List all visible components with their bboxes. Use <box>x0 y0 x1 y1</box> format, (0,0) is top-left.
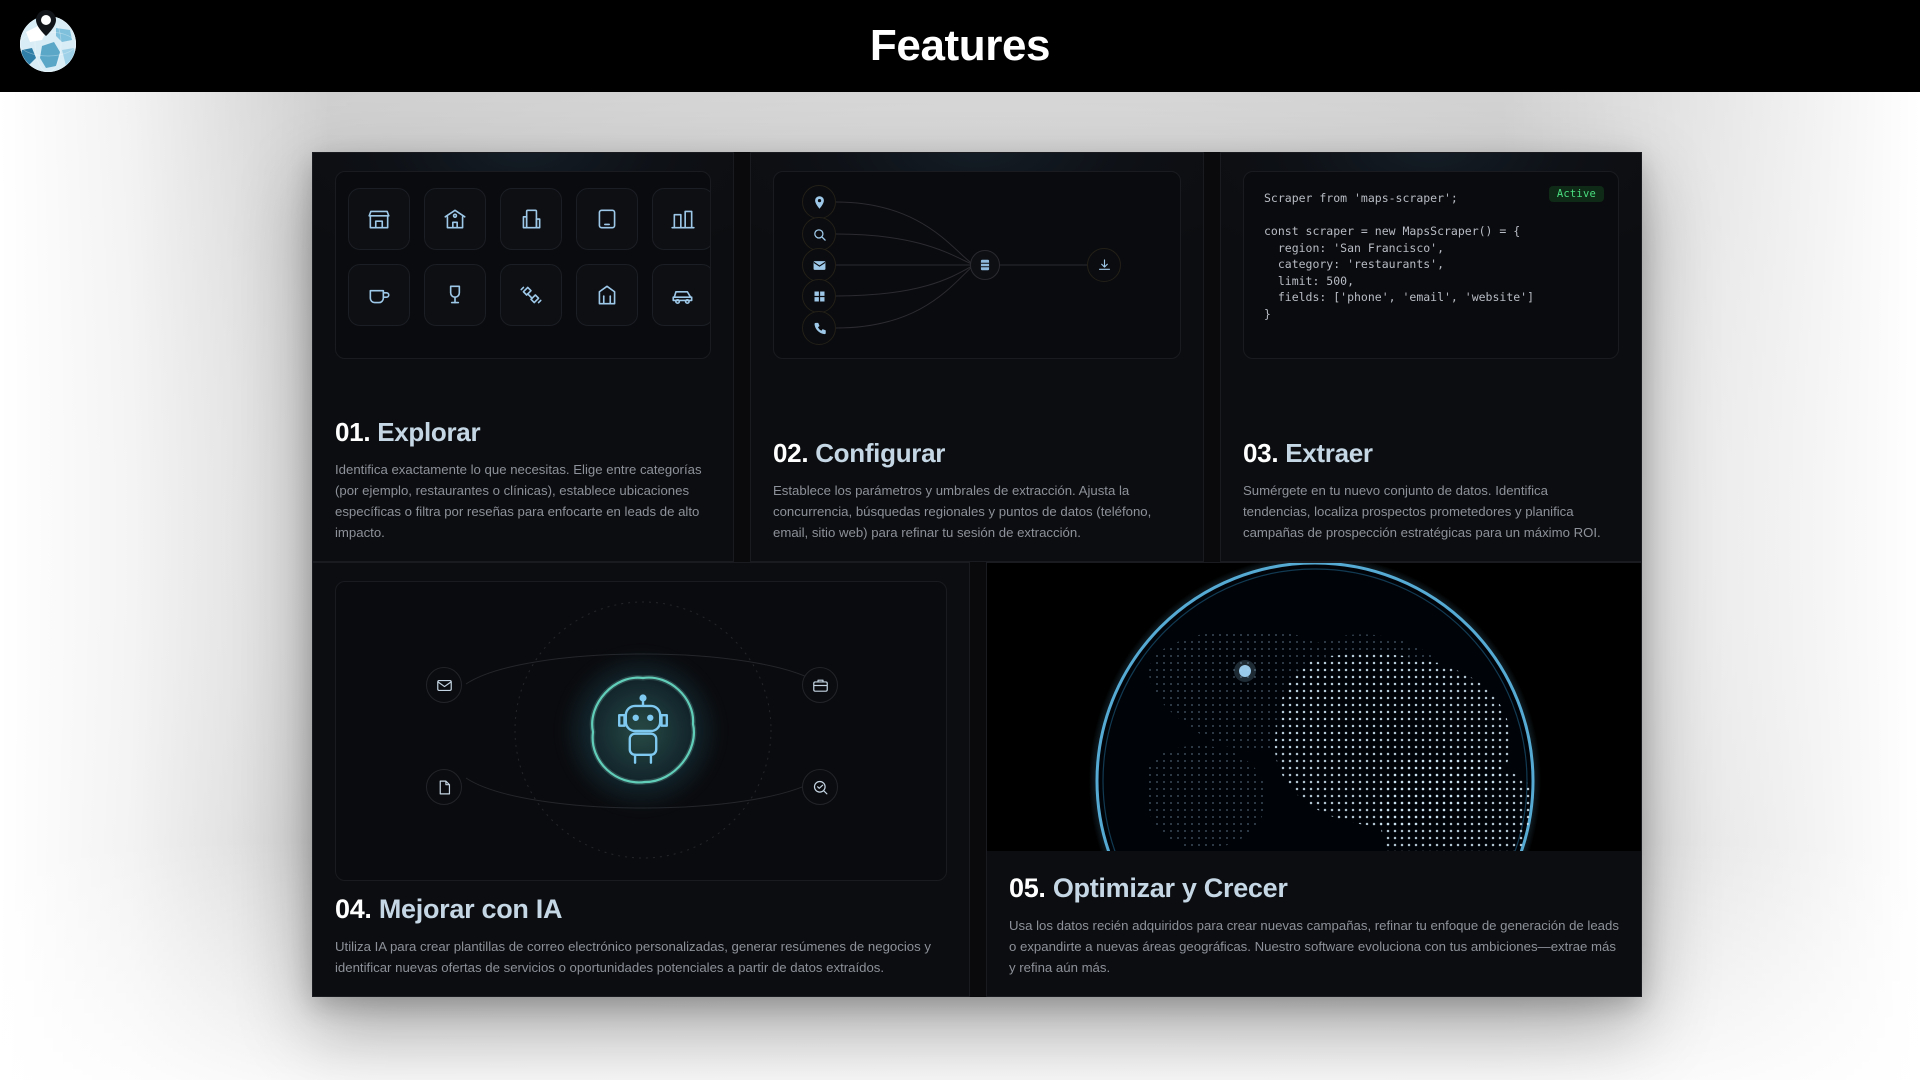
tablet-icon[interactable] <box>576 188 638 250</box>
card-title: Extraer <box>1285 438 1373 468</box>
dumbbell-icon[interactable] <box>500 264 562 326</box>
card-text-extraer: 03. Extraer Sumérgete en tu nuevo conjun… <box>1243 438 1619 543</box>
home-icon[interactable] <box>424 188 486 250</box>
top-bar: Features <box>0 0 1920 92</box>
ai-robot-orb <box>336 582 946 880</box>
code-line: region: 'San Francisco', <box>1264 241 1444 255</box>
status-badge: Active <box>1549 186 1604 202</box>
code-line: category: 'restaurants', <box>1264 257 1444 271</box>
code-line: } <box>1264 307 1271 321</box>
card-text-configurar: 02. Configurar Establece los parámetros … <box>773 438 1181 543</box>
card-number: 05. <box>1009 873 1046 903</box>
bank-icon[interactable] <box>576 264 638 326</box>
card-heading: 01. Explorar <box>335 417 711 448</box>
search-icon[interactable] <box>802 217 836 251</box>
ai-robot-orb-visual <box>335 581 947 881</box>
store-icon[interactable] <box>348 188 410 250</box>
card-heading: 05. Optimizar y Crecer <box>1009 873 1619 904</box>
card-number: 01. <box>335 417 370 447</box>
car-icon[interactable] <box>652 264 711 326</box>
coffee-cup-icon[interactable] <box>348 264 410 326</box>
card-title: Optimizar y Crecer <box>1053 873 1288 903</box>
wine-glass-icon[interactable] <box>424 264 486 326</box>
grid-icon[interactable] <box>802 279 836 313</box>
category-icon-grid-visual <box>335 171 711 359</box>
robot-icon <box>611 694 675 768</box>
mail-icon[interactable] <box>802 248 836 282</box>
location-pin-icon[interactable] <box>802 185 836 219</box>
card-title: Mejorar con IA <box>379 894 562 924</box>
card-text-explorar: 01. Explorar Identifica exactamente lo q… <box>335 417 711 543</box>
card-heading: 03. Extraer <box>1243 438 1619 469</box>
feature-card-mejorar-con-ia[interactable]: 04. Mejorar con IA Utiliza IA para crear… <box>312 562 970 997</box>
node-diagram-visual <box>773 171 1181 359</box>
card-title: Configurar <box>815 438 945 468</box>
features-row-bottom: 04. Mejorar con IA Utiliza IA para crear… <box>312 562 1642 997</box>
card-heading: 02. Configurar <box>773 438 1181 469</box>
features-panel: 01. Explorar Identifica exactamente lo q… <box>312 152 1642 997</box>
page-title: Features <box>0 0 1920 92</box>
code-line: Scraper from 'maps-scraper'; <box>1264 191 1458 205</box>
card-number: 04. <box>335 894 372 924</box>
card-title: Explorar <box>377 417 480 447</box>
card-text-optimizar-y-crecer: 05. Optimizar y Crecer Usa los datos rec… <box>1009 873 1619 978</box>
download-icon[interactable] <box>1087 248 1121 282</box>
card-heading: 04. Mejorar con IA <box>335 894 947 925</box>
database-icon[interactable] <box>970 250 1000 280</box>
node-convergence-diagram <box>774 172 1180 358</box>
feature-card-explorar[interactable]: 01. Explorar Identifica exactamente lo q… <box>312 152 734 562</box>
code-snippet-visual: Scraper from 'maps-scraper'; const scrap… <box>1243 171 1619 359</box>
briefcase-icon[interactable] <box>802 667 838 703</box>
feature-card-optimizar-y-crecer[interactable]: 05. Optimizar y Crecer Usa los datos rec… <box>986 562 1642 997</box>
code-line: limit: 500, <box>1264 274 1354 288</box>
card-description: Usa los datos recién adquiridos para cre… <box>1009 915 1619 978</box>
mail-icon[interactable] <box>426 667 462 703</box>
dotted-globe <box>987 563 1641 851</box>
card-number: 03. <box>1243 438 1278 468</box>
phone-icon[interactable] <box>802 311 836 345</box>
category-icon-grid <box>348 188 711 326</box>
feature-card-extraer[interactable]: Scraper from 'maps-scraper'; const scrap… <box>1220 152 1642 562</box>
search-check-icon[interactable] <box>802 769 838 805</box>
card-description: Establece los parámetros y umbrales de e… <box>773 480 1181 543</box>
code-line: const scraper = new MapsScraper() = { <box>1264 224 1520 238</box>
building-icon[interactable] <box>500 188 562 250</box>
code-line: fields: ['phone', 'email', 'website'] <box>1264 290 1534 304</box>
card-number: 02. <box>773 438 808 468</box>
card-text-mejorar-con-ia: 04. Mejorar con IA Utiliza IA para crear… <box>335 894 947 978</box>
features-row-top: 01. Explorar Identifica exactamente lo q… <box>312 152 1642 562</box>
hotel-icon[interactable] <box>652 188 711 250</box>
card-description: Sumérgete en tu nuevo conjunto de datos.… <box>1243 480 1619 543</box>
document-icon[interactable] <box>426 769 462 805</box>
card-description: Utiliza IA para crear plantillas de corr… <box>335 936 947 978</box>
card-description: Identifica exactamente lo que necesitas.… <box>335 459 711 543</box>
feature-card-configurar[interactable]: 02. Configurar Establece los parámetros … <box>750 152 1204 562</box>
